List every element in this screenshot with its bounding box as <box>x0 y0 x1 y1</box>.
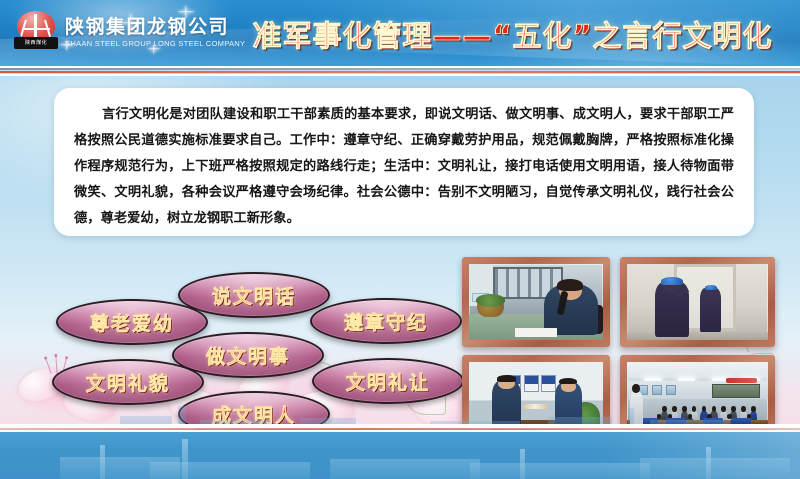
company-name-cn: 陕钢集团龙钢公司 <box>65 16 245 38</box>
photo-helmet-check[interactable] <box>620 257 775 347</box>
header-band: 陕西煤化 陕钢集团龙钢公司 SHAAN STEEL GROUP LONG STE… <box>0 0 800 66</box>
logo-badge-text: 陕西煤化 <box>14 37 58 49</box>
chimney-icon <box>182 439 188 479</box>
slogan-label: 遵章守纪 <box>344 308 428 335</box>
slogan-label: 做文明事 <box>206 342 290 369</box>
photo-image <box>627 264 768 340</box>
slogan-label: 文明礼让 <box>346 368 430 395</box>
steel-plant-silhouette-icon <box>470 463 650 479</box>
body-text-card: 言行文明化是对团队建设和职工干部素质的基本要求，即说文明话、做文明事、成文明人，… <box>54 88 754 236</box>
separator-grey <box>0 68 800 70</box>
company-logo: 陕西煤化 陕钢集团龙钢公司 SHAAN STEEL GROUP LONG STE… <box>14 10 245 54</box>
slogan-label: 说文明话 <box>212 282 296 309</box>
steel-group-logo-icon: 陕西煤化 <box>14 10 58 54</box>
slogan-oval-shuowenminghua[interactable]: 说文明话 <box>178 272 330 318</box>
bottom-band <box>0 432 800 479</box>
chimney-icon <box>520 449 525 479</box>
body-paragraph: 言行文明化是对团队建设和职工干部素质的基本要求，即说文明话、做文明事、成文明人，… <box>74 102 734 232</box>
steel-plant-silhouette-icon <box>640 458 790 479</box>
slogan-oval-zunzhangshouji[interactable]: 遵章守纪 <box>310 298 462 344</box>
slogan-oval-wenminglirang[interactable]: 文明礼让 <box>312 358 464 404</box>
page-title: 准军事化管理——“五化”之言行文明化 <box>240 12 785 56</box>
steel-plant-silhouette-icon <box>150 462 310 479</box>
slogan-label: 文明礼貌 <box>86 369 170 396</box>
chimney-icon <box>100 445 105 479</box>
photo-phone-courtesy[interactable] <box>462 257 610 347</box>
steel-plant-silhouette-icon <box>330 459 480 479</box>
chimney-icon <box>706 447 711 479</box>
slogan-oval-wenminglimao[interactable]: 文明礼貌 <box>52 359 204 405</box>
slogan-oval-zunlaoaiyou[interactable]: 尊老爱幼 <box>56 299 208 345</box>
poster-root: 陕西煤化 陕钢集团龙钢公司 SHAAN STEEL GROUP LONG STE… <box>0 0 800 479</box>
company-name-en: SHAAN STEEL GROUP LONG STEEL COMPANY <box>65 38 245 49</box>
slogan-label: 尊老爱幼 <box>90 309 174 336</box>
photo-image <box>469 264 603 340</box>
